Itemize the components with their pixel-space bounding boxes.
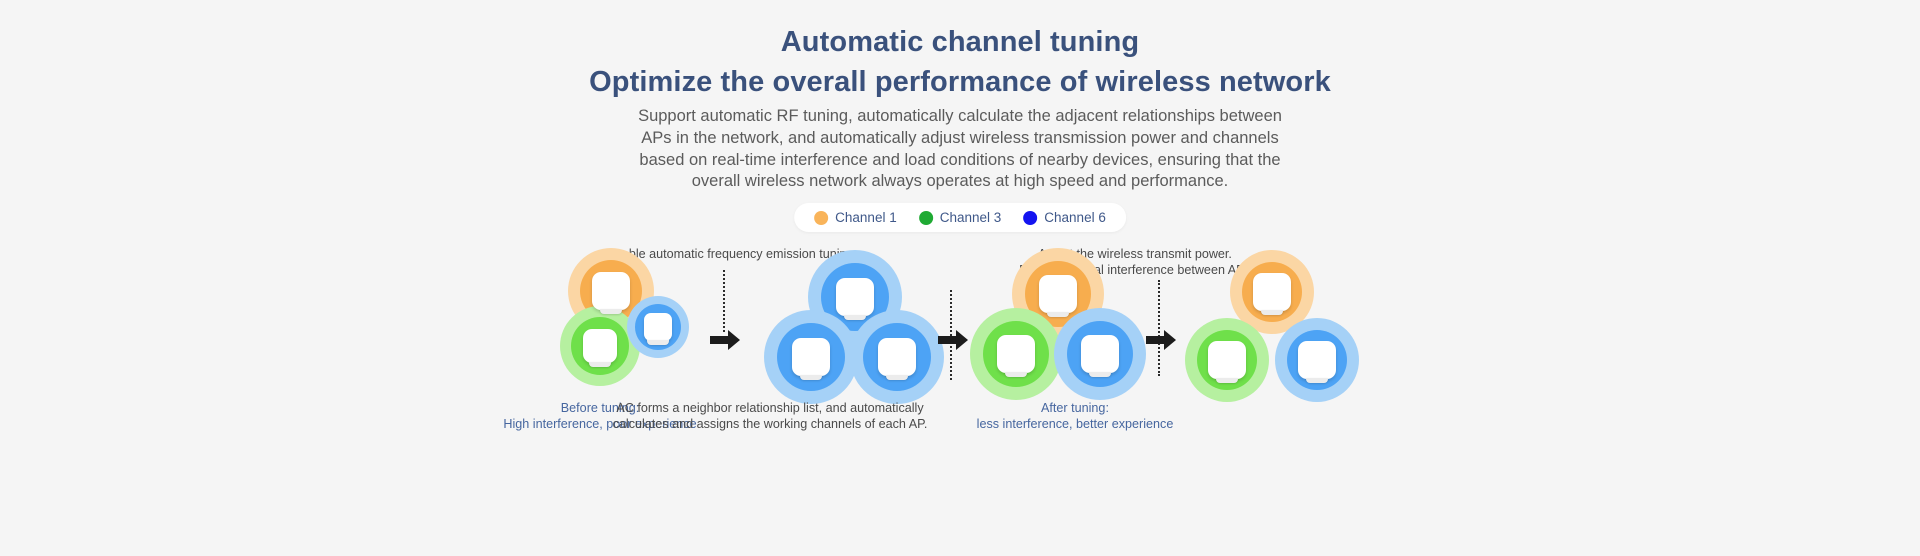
intro-line-3: based on real-time interference and load… bbox=[600, 150, 1320, 172]
legend-label-channel-3: Channel 3 bbox=[940, 210, 1002, 225]
caption-neighbor-discovery-line-1: AC forms a neighbor relationship list, a… bbox=[610, 400, 930, 416]
ap-device-icon bbox=[836, 278, 874, 316]
arrow-head bbox=[1164, 330, 1176, 350]
dotted-connector-1 bbox=[723, 270, 725, 332]
ap-device-icon bbox=[1039, 275, 1077, 313]
caption-neighbor-discovery: AC forms a neighbor relationship list, a… bbox=[610, 400, 930, 432]
ap-device-icon bbox=[1253, 273, 1291, 311]
headings-block: Automatic channel tuning Optimize the ov… bbox=[0, 22, 1920, 102]
intro-line-2: APs in the network, and automatically ad… bbox=[600, 128, 1320, 150]
ap-device-icon bbox=[792, 338, 830, 376]
arrow-head bbox=[728, 330, 740, 350]
dotted-connector-3 bbox=[1158, 280, 1160, 376]
ap-node-channel-6 bbox=[1275, 318, 1359, 402]
flow-arrow-1 bbox=[710, 330, 740, 350]
ap-node-channel-6-right bbox=[850, 310, 944, 404]
caption-neighbor-discovery-line-2: calculates and assigns the working chann… bbox=[610, 416, 930, 432]
ap-node-channel-6 bbox=[627, 296, 689, 358]
ap-device-icon bbox=[644, 313, 672, 341]
legend-label-channel-1: Channel 1 bbox=[835, 210, 897, 225]
caption-after-tuning-line-2: less interference, better experience bbox=[915, 416, 1235, 432]
arrow-shaft bbox=[938, 336, 957, 344]
diagram-group-neighbor-discovery bbox=[768, 238, 938, 418]
ap-device-icon bbox=[583, 329, 617, 363]
ap-device-icon bbox=[1208, 341, 1246, 379]
diagram-group-before-tuning bbox=[555, 238, 715, 418]
legend-dot-icon-channel-1 bbox=[814, 211, 828, 225]
ap-node-channel-6-left bbox=[764, 310, 858, 404]
arrow-head bbox=[956, 330, 968, 350]
ap-node-channel-3 bbox=[1185, 318, 1269, 402]
ap-device-icon bbox=[592, 272, 630, 310]
intro-paragraph: Support automatic RF tuning, automatical… bbox=[600, 106, 1320, 193]
diagram-group-after-tuning bbox=[1185, 238, 1360, 418]
legend-item-channel-1: Channel 1 bbox=[814, 210, 897, 225]
ap-device-icon bbox=[1081, 335, 1119, 373]
diagram-group-channel-assignment bbox=[972, 238, 1142, 418]
ap-node-channel-6 bbox=[1054, 308, 1146, 400]
slide-root: Automatic channel tuning Optimize the ov… bbox=[0, 0, 1920, 556]
intro-line-4: overall wireless network always operates… bbox=[600, 171, 1320, 193]
ap-device-icon bbox=[997, 335, 1035, 373]
channel-legend: Channel 1 Channel 3 Channel 6 bbox=[794, 203, 1126, 232]
arrow-shaft bbox=[710, 336, 729, 344]
arrow-shaft bbox=[1146, 336, 1165, 344]
ap-device-icon bbox=[1298, 341, 1336, 379]
legend-item-channel-6: Channel 6 bbox=[1023, 210, 1106, 225]
legend-item-channel-3: Channel 3 bbox=[919, 210, 1002, 225]
legend-dot-icon-channel-3 bbox=[919, 211, 933, 225]
caption-after-tuning: After tuning: less interference, better … bbox=[915, 400, 1235, 432]
flow-arrow-2 bbox=[938, 330, 968, 350]
page-title-secondary: Optimize the overall performance of wire… bbox=[0, 62, 1920, 102]
legend-label-channel-6: Channel 6 bbox=[1044, 210, 1106, 225]
flow-arrow-3 bbox=[1146, 330, 1176, 350]
legend-dot-icon-channel-6 bbox=[1023, 211, 1037, 225]
ap-device-icon bbox=[878, 338, 916, 376]
caption-after-tuning-line-1: After tuning: bbox=[915, 400, 1235, 416]
page-title-primary: Automatic channel tuning bbox=[0, 22, 1920, 62]
ap-node-channel-3 bbox=[970, 308, 1062, 400]
intro-line-1: Support automatic RF tuning, automatical… bbox=[600, 106, 1320, 128]
